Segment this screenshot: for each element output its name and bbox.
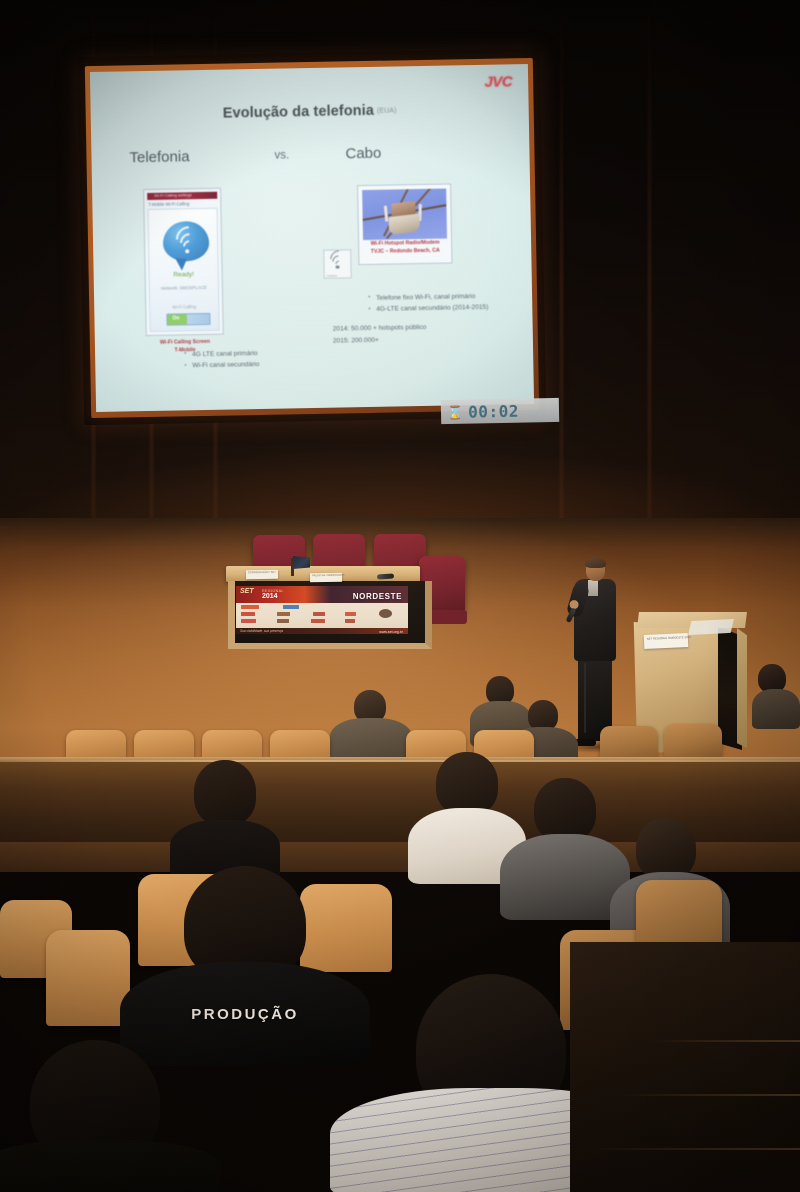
lectern-card-text: SET REGIONAL NORDESTE 2014 bbox=[647, 635, 691, 641]
banner-year: 2014 bbox=[262, 593, 278, 600]
slide-title: Evolução da telefonia(EUA) bbox=[91, 100, 529, 124]
bullet-item: 4G-LTE canal secundário (2014-2015) bbox=[368, 302, 488, 316]
attendee-seated bbox=[330, 690, 412, 760]
namecard-text: COORDENAÇÃO / SET bbox=[248, 571, 276, 574]
attendee-foreground bbox=[0, 1040, 210, 1192]
banner-sponsor-logos bbox=[241, 605, 403, 627]
column-headings: Telefonia vs. Cabo bbox=[91, 142, 529, 176]
banner-org: SET bbox=[240, 588, 254, 595]
jvc-logo: JVC bbox=[484, 73, 512, 91]
hotspot-caption-line1: Wi-Fi Hotspot Radio/Modem bbox=[371, 240, 440, 247]
auditorium-seat bbox=[664, 724, 722, 758]
wifi-bubble-icon bbox=[163, 221, 210, 262]
hotspot-photo bbox=[362, 189, 447, 241]
stat-line: 2014: 50.000 + hotspots público bbox=[333, 322, 427, 335]
timer-value: 00:02 bbox=[468, 401, 519, 421]
banner-region: NORDESTE bbox=[353, 592, 402, 601]
wifi-calling-toggle: On bbox=[166, 313, 210, 326]
hotspot-icon-box: Hotspot bbox=[323, 249, 352, 279]
table-namecard: PALESTRA / MODERADOR bbox=[310, 573, 342, 583]
attendee-seated bbox=[170, 760, 280, 880]
left-bullet-list: 4G LTE canal primário Wi-Fi canal secund… bbox=[144, 348, 259, 373]
heading-cabo: Cabo bbox=[345, 145, 381, 163]
auditorium-seat bbox=[600, 726, 658, 760]
heading-telefonia: Telefonia bbox=[129, 148, 189, 166]
projection-screen: JVC Evolução da telefonia(EUA) Telefonia… bbox=[85, 58, 539, 418]
toggle-state-text: On bbox=[172, 315, 179, 321]
phone-titlebar: Wi-Fi Calling settings bbox=[147, 192, 217, 200]
bullet-item: Wi-Fi canal secundário bbox=[184, 359, 259, 372]
aisle-steps bbox=[570, 942, 800, 1192]
phone-network-text: Network: SMOSPLACE bbox=[150, 285, 218, 291]
right-bullet-list: Telefone fixo Wi-Fi, canal primário 4G-L… bbox=[328, 290, 488, 316]
banner-slogan: Sua visibilidade, sua presença bbox=[240, 629, 283, 633]
wifi-signal-icon bbox=[329, 255, 345, 269]
lectern-name-card: SET REGIONAL NORDESTE 2014 bbox=[644, 633, 689, 649]
hotspot-icon-label: Hotspot bbox=[327, 273, 337, 277]
attendee-producao: PRODUÇÃO bbox=[120, 866, 370, 1066]
banner-url: www.set.org.br bbox=[379, 630, 403, 634]
shirt-text: PRODUÇÃO bbox=[120, 1006, 370, 1023]
stat-line: 2015: 200.000+ bbox=[333, 333, 427, 346]
wifi-arcs-icon bbox=[173, 230, 201, 255]
screen-surface: JVC Evolução da telefonia(EUA) Telefonia… bbox=[90, 64, 534, 412]
phone-status-text: Ready! bbox=[150, 271, 218, 279]
phone-screenshot-card: Wi-Fi Calling settings T-Mobile Wi-Fi Ca… bbox=[143, 188, 224, 336]
attendee-seated bbox=[752, 664, 800, 726]
phone-titlebar-text: Wi-Fi Calling settings bbox=[154, 193, 192, 199]
phone-caption-line1: Wi-Fi Calling Screen bbox=[160, 339, 210, 346]
banner-edition-label: REGIONAL bbox=[262, 589, 284, 593]
table-namecard: COORDENAÇÃO / SET bbox=[246, 570, 278, 580]
hotspot-photo-caption: Wi-Fi Hotspot Radio/Modem TVJC – Redondo… bbox=[361, 239, 449, 256]
hotspot-photo-card: Wi-Fi Hotspot Radio/Modem TVJC – Redondo… bbox=[357, 183, 452, 265]
auditorium-seat bbox=[46, 930, 130, 1026]
phone-body: Ready! Network: SMOSPLACE Wi-Fi Calling … bbox=[147, 208, 219, 332]
event-banner: SET REGIONAL 2014 NORDESTE Sua visibilid… bbox=[236, 586, 408, 634]
presentation-timer-overlay: ⌛ 00:02 bbox=[441, 398, 559, 424]
slide-title-suffix: (EUA) bbox=[377, 107, 397, 114]
banner-header-bar: SET REGIONAL 2014 NORDESTE bbox=[236, 586, 408, 603]
lectern-papers bbox=[688, 619, 734, 635]
right-stats-block: 2014: 50.000 + hotspots público 2015: 20… bbox=[333, 322, 427, 347]
hotspot-caption-line2: TVJC – Redondo Beach, CA bbox=[371, 247, 440, 254]
phone-toggle-label: Wi-Fi Calling bbox=[150, 304, 218, 310]
heading-vs: vs. bbox=[274, 149, 289, 161]
table-flag bbox=[293, 556, 310, 569]
namecard-text: PALESTRA / MODERADOR bbox=[312, 574, 345, 578]
phone-carrier-line: T-Mobile Wi-Fi Calling bbox=[148, 201, 189, 207]
auditorium-photo: JVC Evolução da telefonia(EUA) Telefonia… bbox=[0, 0, 800, 1192]
slide-title-text: Evolução da telefonia bbox=[223, 103, 374, 122]
hourglass-icon: ⌛ bbox=[447, 405, 463, 418]
